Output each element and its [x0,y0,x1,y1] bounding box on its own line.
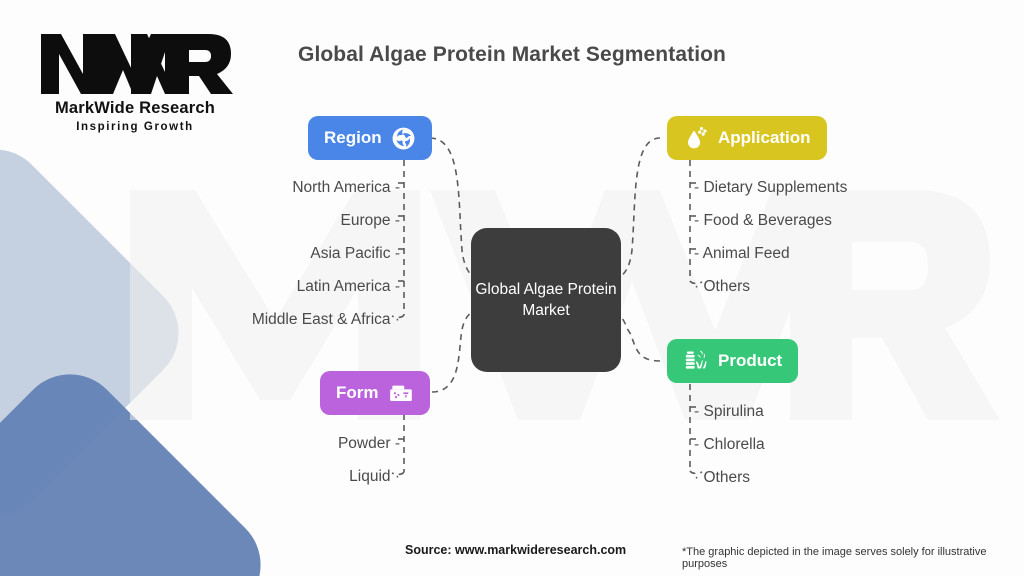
branch-badge-form-label: Form [336,383,379,403]
leaf-label: North America [292,179,390,196]
leaf-item: Latin America - [130,270,400,303]
source-credit: Source: www.markwideresearch.com [405,543,626,557]
branch-badge-region-label: Region [324,128,382,148]
leaf-list-product: - Spirulina - Chlorella · Others [694,395,954,494]
leaf-dash: - [694,212,699,229]
leaf-label: Europe [341,212,391,229]
leaf-dash: - [694,436,699,453]
algae-jar-icon [683,348,709,374]
leaf-dash: - [395,278,400,295]
leaf-dash: - [694,245,699,262]
branch-badge-product-label: Product [718,351,782,371]
leaf-label: Chlorella [703,436,764,453]
leaf-item: Asia Pacific - [130,237,400,270]
leaf-item: - Spirulina [694,395,954,428]
leaf-label: Dietary Supplements [703,179,847,196]
leaf-dash: - [395,245,400,262]
leaf-dash: - [395,212,400,229]
leaf-label: Middle East & Africa [252,311,391,328]
branch-badge-product[interactable]: Product [667,339,798,383]
leaf-label: Animal Feed [703,245,790,262]
branch-badge-application-label: Application [718,128,811,148]
leaf-dash: - [694,179,699,196]
leaf-dash: · [395,468,400,485]
leaf-dash: · [694,278,699,295]
leaf-item: Europe - [130,204,400,237]
leaf-item: - Dietary Supplements [694,171,994,204]
center-node-label: Global Algae Protein Market [471,279,621,322]
disclaimer-note: *The graphic depicted in the image serve… [682,546,1024,570]
leaf-item: Liquid · [190,460,400,493]
center-node: Global Algae Protein Market [471,228,621,372]
leaf-label: Others [703,469,750,486]
leaf-item: Middle East & Africa · [130,303,400,336]
branch-badge-application[interactable]: Application [667,116,827,160]
leaf-list-application: - Dietary Supplements - Food & Beverages… [694,171,994,303]
leaf-item: · Others [694,270,994,303]
globe-icon [391,126,416,151]
leaf-item: - Food & Beverages [694,204,994,237]
leaf-dash: - [694,403,699,420]
branch-badge-region[interactable]: Region [308,116,432,160]
package-icon [388,380,414,406]
branch-badge-form[interactable]: Form [320,371,430,415]
leaf-item: North America - [130,171,400,204]
leaf-item: - Animal Feed [694,237,994,270]
leaf-label: Food & Beverages [703,212,831,229]
leaf-item: - Chlorella [694,428,954,461]
leaf-item: · Others [694,461,954,494]
leaf-dash: · [694,469,699,486]
leaf-label: Asia Pacific [310,245,390,262]
leaf-label: Latin America [297,278,391,295]
leaf-list-form: Powder - Liquid · [190,427,400,493]
leaf-dash: - [395,179,400,196]
leaf-list-region: North America - Europe - Asia Pacific - … [130,171,400,336]
leaf-label: Spirulina [703,403,763,420]
leaf-item: Powder - [190,427,400,460]
leaf-label: Powder [338,435,391,452]
droplet-icon [683,125,709,151]
infographic-canvas: MarkWide Research Inspiring Growth Globa… [0,0,1024,576]
leaf-label: Others [703,278,750,295]
leaf-dash: - [395,435,400,452]
leaf-label: Liquid [349,468,390,485]
leaf-dash: · [395,311,400,328]
